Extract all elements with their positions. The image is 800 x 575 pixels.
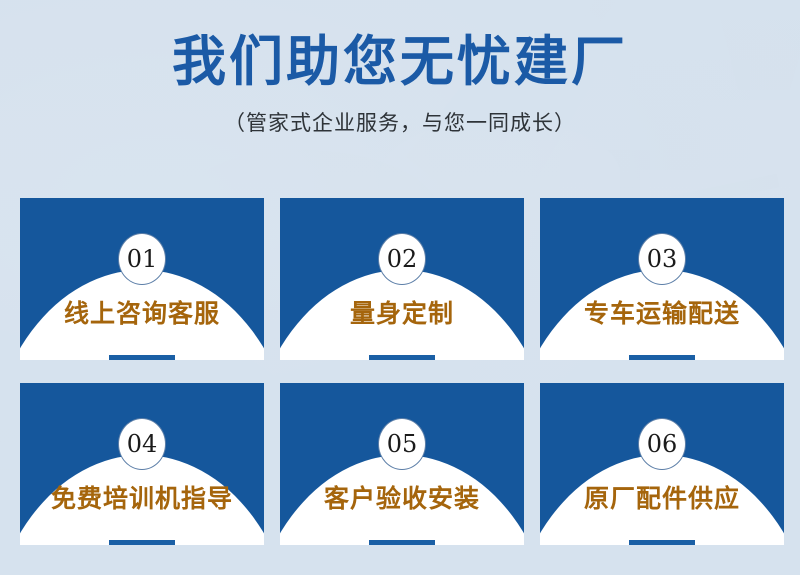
card-underline-bar (109, 355, 175, 360)
card-number-badge: 05 (378, 418, 426, 470)
service-card-05[interactable]: 05 客户验收安装 (280, 383, 524, 545)
service-card-03[interactable]: 03 专车运输配送 (540, 198, 784, 360)
page-subtitle: （管家式企业服务，与您一同成长） (0, 107, 800, 137)
card-underline-bar (629, 540, 695, 545)
card-underline-bar (369, 540, 435, 545)
card-number-badge: 06 (638, 418, 686, 470)
card-number-text: 02 (387, 247, 418, 271)
service-card-06[interactable]: 06 原厂配件供应 (540, 383, 784, 545)
page-title: 我们助您无忧建厂 (0, 34, 800, 91)
card-label: 线上咨询客服 (20, 294, 264, 330)
service-card-grid: 01 线上咨询客服 02 量身定制 03 专车运输配送 04 (20, 198, 784, 545)
card-label: 免费培训机指导 (20, 479, 264, 515)
card-label: 专车运输配送 (540, 294, 784, 330)
card-number-text: 03 (647, 247, 678, 271)
card-number-badge: 02 (378, 233, 426, 285)
card-underline-bar (369, 355, 435, 360)
service-card-04[interactable]: 04 免费培训机指导 (20, 383, 264, 545)
service-card-01[interactable]: 01 线上咨询客服 (20, 198, 264, 360)
card-underline-bar (629, 355, 695, 360)
card-number-badge: 03 (638, 233, 686, 285)
card-number-badge: 04 (118, 418, 166, 470)
card-number-text: 05 (387, 432, 418, 456)
promo-banner: 我们助您无忧建厂 （管家式企业服务，与您一同成长） 01 线上咨询客服 02 量… (0, 0, 800, 575)
card-number-badge: 01 (118, 233, 166, 285)
card-label: 客户验收安装 (280, 479, 524, 515)
card-label: 原厂配件供应 (540, 479, 784, 515)
card-number-text: 06 (647, 432, 678, 456)
service-card-02[interactable]: 02 量身定制 (280, 198, 524, 360)
card-label: 量身定制 (280, 294, 524, 330)
card-underline-bar (109, 540, 175, 545)
card-number-text: 01 (127, 247, 158, 271)
card-number-text: 04 (127, 432, 158, 456)
heading-block: 我们助您无忧建厂 （管家式企业服务，与您一同成长） (0, 34, 800, 137)
